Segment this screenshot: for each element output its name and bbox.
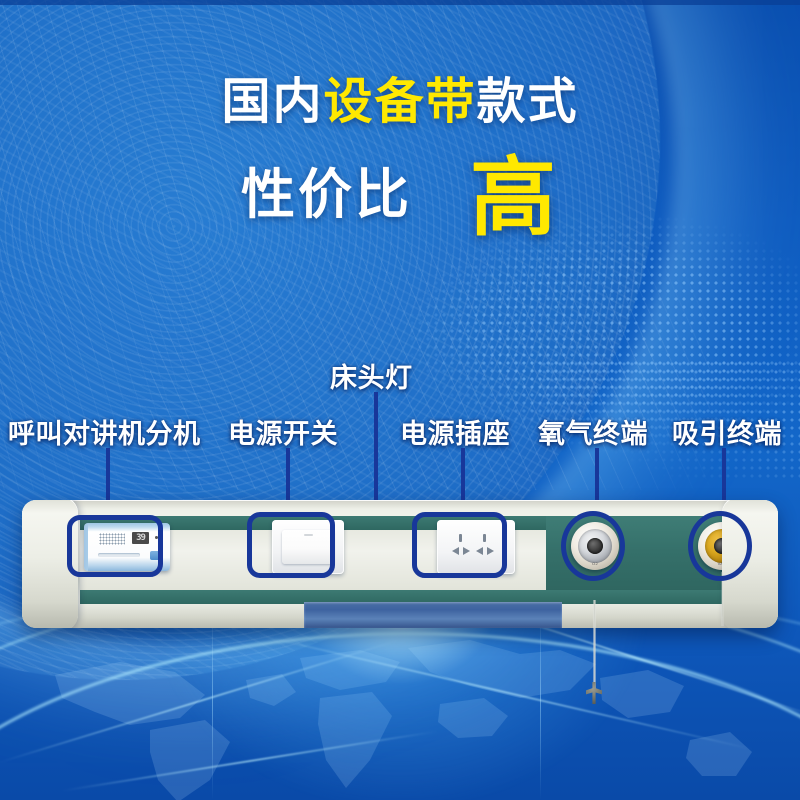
intercom-display: 39 xyxy=(132,532,149,544)
status-led-icon xyxy=(155,536,158,539)
vertical-light-line-2 xyxy=(212,600,213,800)
power-switch-indicator-icon xyxy=(304,534,313,536)
nurse-call-intercom-extension[interactable]: 39 xyxy=(84,523,170,571)
oxygen-terminal-marking: O2 xyxy=(592,561,598,566)
power-switch-rocker[interactable] xyxy=(282,530,334,564)
callout-label-reading-light: 床头灯 xyxy=(330,356,413,395)
callout-label-power-socket: 电源插座 xyxy=(400,412,510,451)
bed-reading-light[interactable] xyxy=(304,602,562,628)
socket-blade-icon xyxy=(487,547,494,555)
power-switch[interactable] xyxy=(272,520,344,574)
headline-line-2: 性价比高 xyxy=(0,155,800,241)
headline-part-4: 性价比 xyxy=(241,165,412,225)
oxygen-hose-cord xyxy=(593,600,596,690)
intercom-vent-slot xyxy=(98,553,140,557)
socket-blade-icon xyxy=(463,547,470,555)
intercom-call-button[interactable] xyxy=(150,551,163,560)
power-socket-face xyxy=(450,532,502,562)
callout-label-nurse-call: 呼叫对讲机分机 xyxy=(8,412,201,451)
callout-label-suction-terminal: 吸引终端 xyxy=(672,412,782,451)
headline-emphasis-gao: 高 xyxy=(470,155,559,241)
panel-body: 39 xyxy=(22,500,778,628)
vertical-light-line-1 xyxy=(540,600,541,800)
hospital-bed-head-unit: 39 xyxy=(22,500,778,628)
callout-label-oxygen-terminal: 氧气终端 xyxy=(538,412,648,451)
speaker-grille-icon xyxy=(99,533,125,545)
socket-pin-icon xyxy=(483,534,486,542)
headline-block: 国内设备带款式 性价比高 xyxy=(0,78,800,241)
panel-end-cap-right xyxy=(722,500,778,628)
top-edge-bar xyxy=(0,0,800,5)
socket-pin-icon xyxy=(459,534,462,542)
suction-hose-cord xyxy=(721,572,724,626)
poster-stage: 国内设备带款式 性价比高 呼叫对讲机分机 电源开关 床头灯 电源插座 氧气终端 … xyxy=(0,0,800,800)
power-socket[interactable] xyxy=(437,520,515,574)
socket-blade-icon xyxy=(452,547,459,555)
oxygen-terminal[interactable]: O2 xyxy=(571,522,619,570)
callout-label-power-switch: 电源开关 xyxy=(228,412,338,451)
socket-blade-icon xyxy=(476,547,483,555)
headline-line-1: 国内设备带款式 xyxy=(0,78,800,127)
panel-end-cap-left xyxy=(22,500,78,628)
oxygen-terminal-port[interactable] xyxy=(587,538,603,554)
headline-part-2: 设备带 xyxy=(323,75,476,129)
headline-part-1: 国内 xyxy=(221,75,323,129)
headline-part-3: 款式 xyxy=(477,75,579,129)
